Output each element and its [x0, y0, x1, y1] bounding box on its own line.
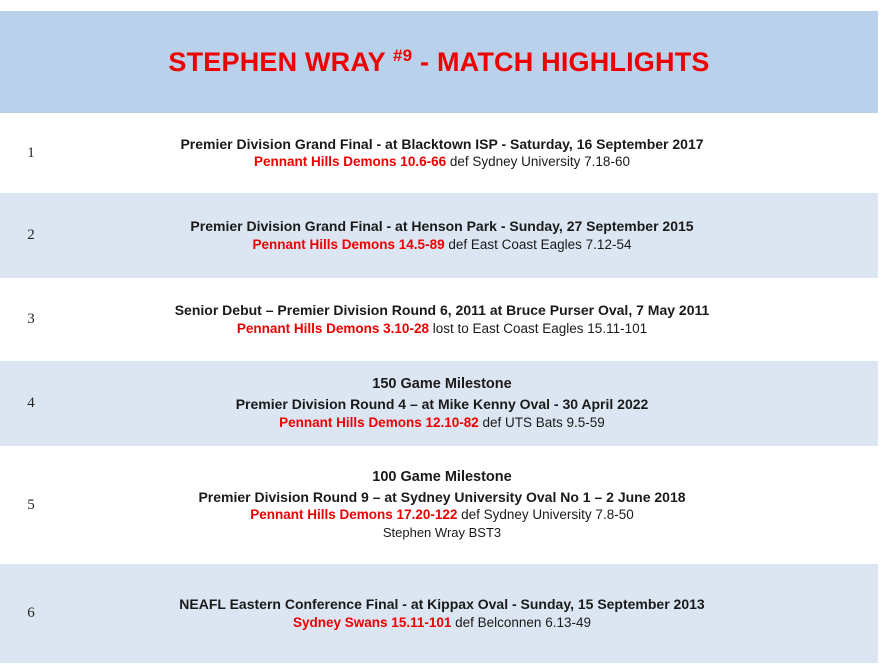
row-content: Premier Division Grand Final - at Henson…: [62, 217, 878, 254]
table-row: 5 100 Game Milestone Premier Division Ro…: [0, 446, 878, 564]
row-number: 2: [0, 227, 62, 244]
match-score-highlight: Pennant Hills Demons 17.20-122: [250, 507, 457, 522]
row-content: Premier Division Grand Final - at Blackt…: [62, 135, 878, 172]
match-score: Pennant Hills Demons 10.6-66 def Sydney …: [62, 153, 822, 171]
match-title: Premier Division Grand Final - at Blackt…: [62, 135, 822, 154]
match-score-rest: def Sydney University 7.8-50: [457, 507, 633, 522]
page-title-jersey-number: #9: [393, 46, 412, 65]
row-content: NEAFL Eastern Conference Final - at Kipp…: [62, 595, 878, 632]
row-number: 5: [0, 497, 62, 514]
match-score: Pennant Hills Demons 12.10-82 def UTS Ba…: [62, 414, 822, 432]
row-number: 1: [0, 145, 62, 162]
match-score-rest: def Sydney University 7.18-60: [446, 154, 630, 169]
match-score: Pennant Hills Demons 14.5-89 def East Co…: [62, 236, 822, 254]
match-highlights-sheet: STEPHEN WRAY #9 - MATCH HIGHLIGHTS 1 Pre…: [0, 0, 888, 670]
row-content: 150 Game Milestone Premier Division Roun…: [62, 375, 878, 431]
match-title: Premier Division Round 4 – at Mike Kenny…: [62, 395, 822, 414]
page-title-name: STEPHEN WRAY: [168, 47, 393, 77]
match-title: Premier Division Grand Final - at Henson…: [62, 217, 822, 236]
match-score-highlight: Pennant Hills Demons 12.10-82: [279, 415, 479, 430]
page-title: STEPHEN WRAY #9 - MATCH HIGHLIGHTS: [168, 47, 709, 78]
match-title: Senior Debut – Premier Division Round 6,…: [62, 301, 822, 320]
match-score-rest: def East Coast Eagles 7.12-54: [445, 237, 632, 252]
highlights-list: 1 Premier Division Grand Final - at Blac…: [0, 113, 888, 663]
row-number: 4: [0, 395, 62, 412]
row-number: 3: [0, 311, 62, 328]
match-score-rest: def UTS Bats 9.5-59: [479, 415, 605, 430]
table-row: 3 Senior Debut – Premier Division Round …: [0, 278, 878, 361]
match-score-highlight: Sydney Swans 15.11-101: [293, 615, 451, 630]
match-score-highlight: Pennant Hills Demons 10.6-66: [254, 154, 446, 169]
row-content: Senior Debut – Premier Division Round 6,…: [62, 301, 878, 338]
table-row: 2 Premier Division Grand Final - at Hens…: [0, 193, 878, 278]
match-title: Premier Division Round 9 – at Sydney Uni…: [62, 488, 822, 507]
milestone-label: 150 Game Milestone: [62, 375, 822, 394]
match-score: Pennant Hills Demons 17.20-122 def Sydne…: [62, 506, 822, 524]
match-score-rest: def Belconnen 6.13-49: [451, 615, 591, 630]
header-banner: STEPHEN WRAY #9 - MATCH HIGHLIGHTS: [0, 11, 878, 113]
table-row: 4 150 Game Milestone Premier Division Ro…: [0, 361, 878, 446]
match-title: NEAFL Eastern Conference Final - at Kipp…: [62, 595, 822, 614]
milestone-label: 100 Game Milestone: [62, 468, 822, 487]
table-row: 6 NEAFL Eastern Conference Final - at Ki…: [0, 564, 878, 663]
row-content: 100 Game Milestone Premier Division Roun…: [62, 468, 878, 542]
row-number: 6: [0, 605, 62, 622]
match-score: Sydney Swans 15.11-101 def Belconnen 6.1…: [62, 614, 822, 632]
page-title-suffix: - MATCH HIGHLIGHTS: [412, 47, 709, 77]
match-score-highlight: Pennant Hills Demons 14.5-89: [253, 237, 445, 252]
match-score: Pennant Hills Demons 3.10-28 lost to Eas…: [62, 320, 822, 338]
player-note: Stephen Wray BST3: [62, 524, 822, 541]
match-score-rest: lost to East Coast Eagles 15.11-101: [429, 321, 647, 336]
table-row: 1 Premier Division Grand Final - at Blac…: [0, 113, 878, 193]
match-score-highlight: Pennant Hills Demons 3.10-28: [237, 321, 429, 336]
